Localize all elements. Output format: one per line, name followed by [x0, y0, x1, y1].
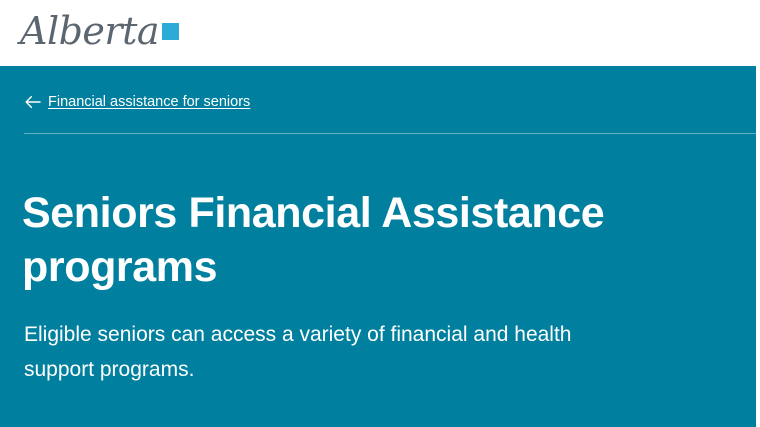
page-root: Alberta Financial assistance for seniors…	[0, 0, 760, 427]
alberta-flag-square-icon	[162, 23, 179, 40]
hero-divider	[24, 133, 756, 134]
breadcrumb-back-link[interactable]: Financial assistance for seniors	[48, 93, 250, 111]
page-title: Seniors Financial Assistance programs	[22, 186, 622, 294]
site-header: Alberta	[0, 0, 760, 66]
right-edge-gutter	[756, 66, 760, 427]
arrow-left-icon	[24, 94, 42, 110]
alberta-logo[interactable]: Alberta	[20, 10, 179, 56]
hero-banner: Financial assistance for seniors Seniors…	[0, 66, 756, 427]
alberta-wordmark: Alberta	[20, 12, 159, 50]
page-subtitle: Eligible seniors can access a variety of…	[24, 317, 634, 387]
breadcrumb[interactable]: Financial assistance for seniors	[24, 92, 250, 112]
